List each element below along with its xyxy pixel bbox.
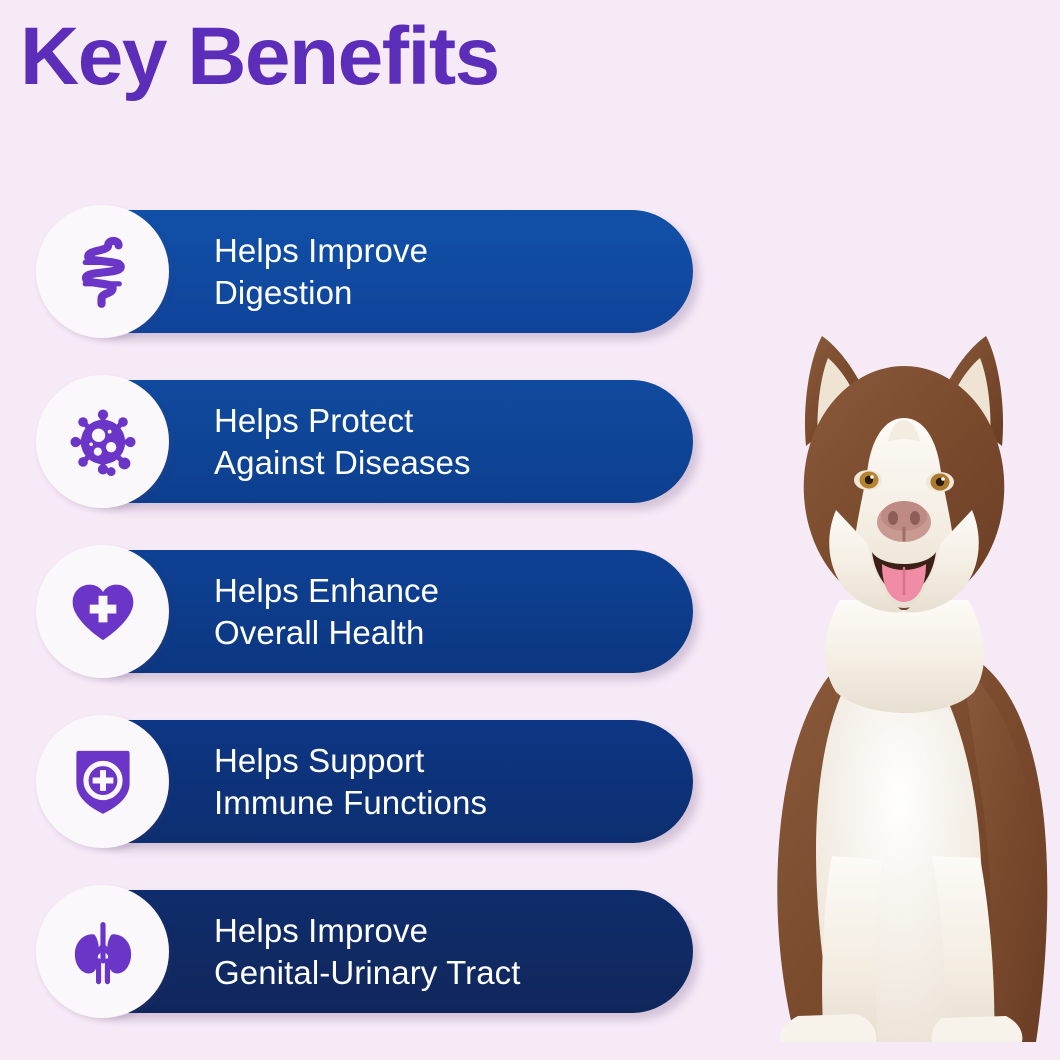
kidneys-icon bbox=[66, 915, 140, 989]
intestine-icon bbox=[66, 235, 140, 309]
benefits-list: Helps Improve Digestion bbox=[36, 205, 716, 1015]
benefit-icon-badge bbox=[36, 715, 169, 848]
heart-plus-icon bbox=[66, 575, 140, 649]
virus-icon bbox=[66, 405, 140, 479]
benefit-item-diseases[interactable]: Helps Protect Against Diseases bbox=[36, 375, 716, 505]
shield-plus-icon bbox=[66, 745, 140, 819]
page-title: Key Benefits bbox=[20, 16, 499, 98]
benefit-label: Helps Protect Against Diseases bbox=[214, 399, 471, 483]
benefit-item-digestion[interactable]: Helps Improve Digestion bbox=[36, 205, 716, 335]
benefit-item-immune-functions[interactable]: Helps Support Immune Functions bbox=[36, 715, 716, 845]
benefit-label: Helps Enhance Overall Health bbox=[214, 569, 439, 653]
key-benefits-poster: Key Benefits Helps Improve Digestion bbox=[0, 0, 1060, 1060]
benefit-icon-badge bbox=[36, 375, 169, 508]
benefit-icon-badge bbox=[36, 205, 169, 338]
dog-photo bbox=[736, 300, 1060, 1060]
benefit-icon-badge bbox=[36, 545, 169, 678]
benefit-label: Helps Support Immune Functions bbox=[214, 739, 487, 823]
benefit-item-overall-health[interactable]: Helps Enhance Overall Health bbox=[36, 545, 716, 675]
benefit-label: Helps Improve Genital-Urinary Tract bbox=[214, 909, 521, 993]
benefit-icon-badge bbox=[36, 885, 169, 1018]
benefit-label: Helps Improve Digestion bbox=[214, 229, 428, 313]
benefit-item-genital-urinary-tract[interactable]: Helps Improve Genital-Urinary Tract bbox=[36, 885, 716, 1015]
